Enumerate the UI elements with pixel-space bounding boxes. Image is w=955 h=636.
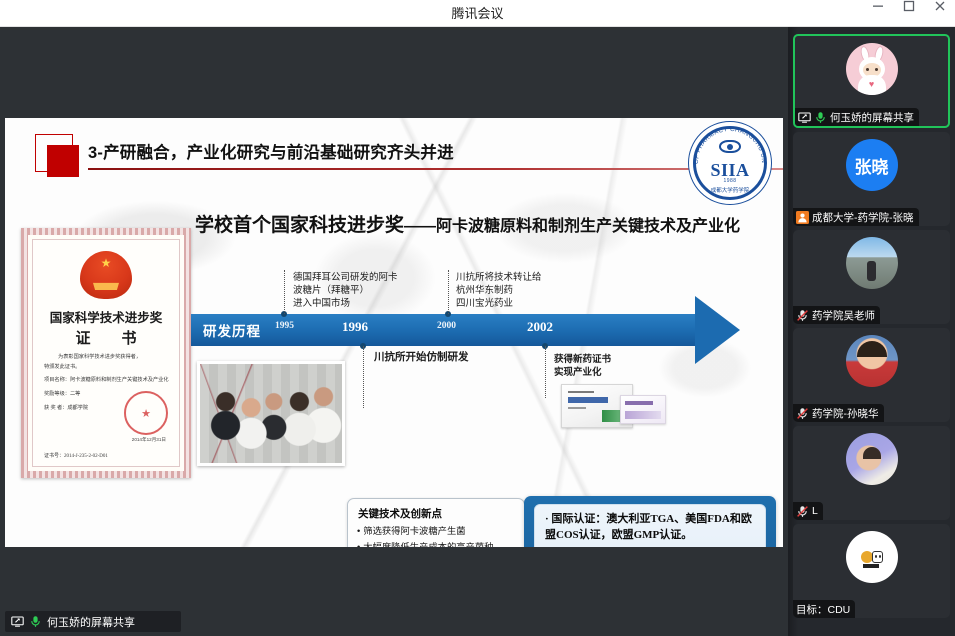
certificate-project-label: 项目名称： [44,377,70,383]
national-emblem-icon: ★ [80,251,132,299]
participant-tile-screen-share[interactable]: ♥ 何玉娇的屏幕共享 [793,34,950,128]
mic-muted-icon [796,309,809,322]
participant-badge: 何玉娇的屏幕共享 [795,108,919,126]
avatar: 张晓 [846,139,898,191]
avatar-initials: 张晓 [855,153,889,178]
timeline-note-2000: 川抗所将技术转让给 杭州华东制药 四川宝光药业 [456,271,542,310]
screen-share-icon [11,615,24,628]
research-team-photo [197,361,345,466]
timeline-connector-2002 [545,346,546,398]
participant-tile-zhangxiao[interactable]: 张晓 成都大学-药学院-张晓 [793,132,950,226]
avatar [846,433,898,485]
presenter-name-chip: 何玉娇的屏幕共享 [5,611,181,632]
key-technology-item: 筛选获得阿卡波糖产生菌 [357,524,518,540]
timeline-year-2002: 2002 [527,319,553,335]
logo-arc-text: SCHOOL OF PHARMACY CHANGCHU UNIVERSITY [688,121,772,205]
timeline-connector-1996 [363,346,364,408]
participant-badge: 药学院吴老师 [793,306,880,324]
timeline-year-2000: 2000 [437,321,456,331]
slide-subtitle: 学校首个国家科技进步奖——阿卡波糖原料和制剂生产关键技术及产业化 [195,210,740,237]
participant-name: 目标：CDU [796,602,850,617]
timeline-connector-2000 [448,270,449,314]
avatar: ♥ [846,43,898,95]
timeline-label: 研发历程 [203,320,261,340]
timeline-arrow-head [695,296,740,364]
certificate-subtitle: 证 书 [28,327,184,348]
header-square-fill [47,145,79,177]
participant-sidebar[interactable]: ♥ 何玉娇的屏幕共享 张晓 [788,27,955,636]
mic-on-icon [814,111,827,124]
participant-badge: L [793,502,823,520]
host-icon [796,211,809,224]
key-technology-box: 关键技术及创新点 筛选获得阿卡波糖产生菌 大幅度降低生产成本的高产菌种 适合大规… [347,498,525,547]
certificate-project-value: 阿卡波糖原料和制剂生产关键技术及产业化 [70,377,169,383]
participant-badge: 目标：CDU [793,600,855,618]
participant-badge: 药学院-孙晓华 [793,404,884,422]
slide-header-title: 3-产研融合，产业化研究与前沿基础研究齐头并进 [88,139,454,163]
certificate-winner-label: 获 奖 者： [44,405,67,411]
timeline-note-1996: 川抗所开始仿制研发 [374,350,469,364]
certificate-body-line1: 为表彰国家科学技术进步奖获得者， [44,353,172,363]
subtitle-rest: ——阿卡波糖原料和制剂生产关键技术及产业化 [404,218,740,235]
certificate-body-line2: 特颁发此证书。 [44,363,172,373]
participant-name: 何玉娇的屏幕共享 [830,110,914,125]
timeline-note-1995: 德国拜耳公司研发的阿卡 波糖片（拜糖平） 进入中国市场 [293,271,398,310]
mic-muted-icon [796,505,809,518]
close-button[interactable] [924,0,955,27]
certificate-number: 证书号：2014-J-235-2-02-D01 [44,452,108,459]
participant-tile-sunxiaohua[interactable]: 药学院-孙晓华 [793,328,950,422]
minimize-button[interactable] [862,0,893,27]
avatar [846,237,898,289]
shared-screen-stage[interactable]: 3-产研融合，产业化研究与前沿基础研究齐头并进 SIIA 1988 成都大学药学… [0,27,788,636]
participant-tile-cdu[interactable]: 目标：CDU [793,524,950,618]
maximize-button[interactable] [893,0,924,27]
header-divider [88,168,783,170]
timeline-note-2002: 获得新药证书 实现产业化 [554,353,611,379]
participant-name: 药学院-孙晓华 [812,406,879,421]
certificate-date: 2014年12月31日 [132,437,166,443]
key-technology-list: 筛选获得阿卡波糖产生菌 大幅度降低生产成本的高产菌种 适合大规模工业化生产的发酵… [357,524,518,547]
mic-on-icon [29,615,42,628]
results-item-certification: · 国际认证：澳大利亚TGA、美国FDA和欧盟COS认证，欧盟GMP认证。 [545,512,757,543]
svg-text:SCHOOL OF PHARMACY CHANGCHU UN: SCHOOL OF PHARMACY CHANGCHU UNIVERSITY [688,121,767,164]
title-bar: 腾讯会议 [0,0,955,27]
certificate-winner-value: 成都学院 [67,405,88,411]
participant-badge: 成都大学-药学院-张晓 [793,208,919,226]
results-box: · 国际认证：澳大利亚TGA、美国FDA和欧盟COS认证，欧盟GMP认证。 · … [524,496,776,547]
award-certificate-image: ★ 国家科学技术进步奖 证 书 为表彰国家科学技术进步奖获得者， 特颁发此证书。… [21,228,191,478]
timeline-year-1996: 1996 [342,319,368,335]
subtitle-main: 学校首个国家科技进步奖 [195,215,404,236]
participant-name: L [812,505,818,517]
mic-muted-icon [796,407,809,420]
key-technology-item: 大幅度降低生产成本的高产菌种 [357,540,518,547]
presentation-slide: 3-产研融合，产业化研究与前沿基础研究齐头并进 SIIA 1988 成都大学药学… [5,118,783,547]
avatar [846,335,898,387]
certificate-seal-icon: ★ [124,391,168,435]
timeline-connector-1995 [284,270,285,314]
school-logo-icon: SIIA 1988 成都大学药学院 SCHOOL OF PHARMACY CHA… [688,121,772,205]
presenter-name: 何玉娇的屏幕共享 [47,614,135,630]
certificate-grade-value: 二等 [70,391,80,397]
participant-tile-l[interactable]: L [793,426,950,520]
key-technology-title: 关键技术及创新点 [358,506,442,521]
participant-name: 药学院吴老师 [812,308,875,323]
product-package-image-secondary [620,395,666,424]
screen-share-icon [798,111,811,124]
certificate-title: 国家科学技术进步奖 [28,307,184,326]
window-title: 腾讯会议 [0,0,955,27]
timeline-year-1995: 1995 [275,321,294,331]
participant-tile-wu-teacher[interactable]: 药学院吴老师 [793,230,950,324]
certificate-grade-label: 奖励等级： [44,391,70,397]
avatar [846,531,898,583]
participant-name: 成都大学-药学院-张晓 [812,210,914,225]
